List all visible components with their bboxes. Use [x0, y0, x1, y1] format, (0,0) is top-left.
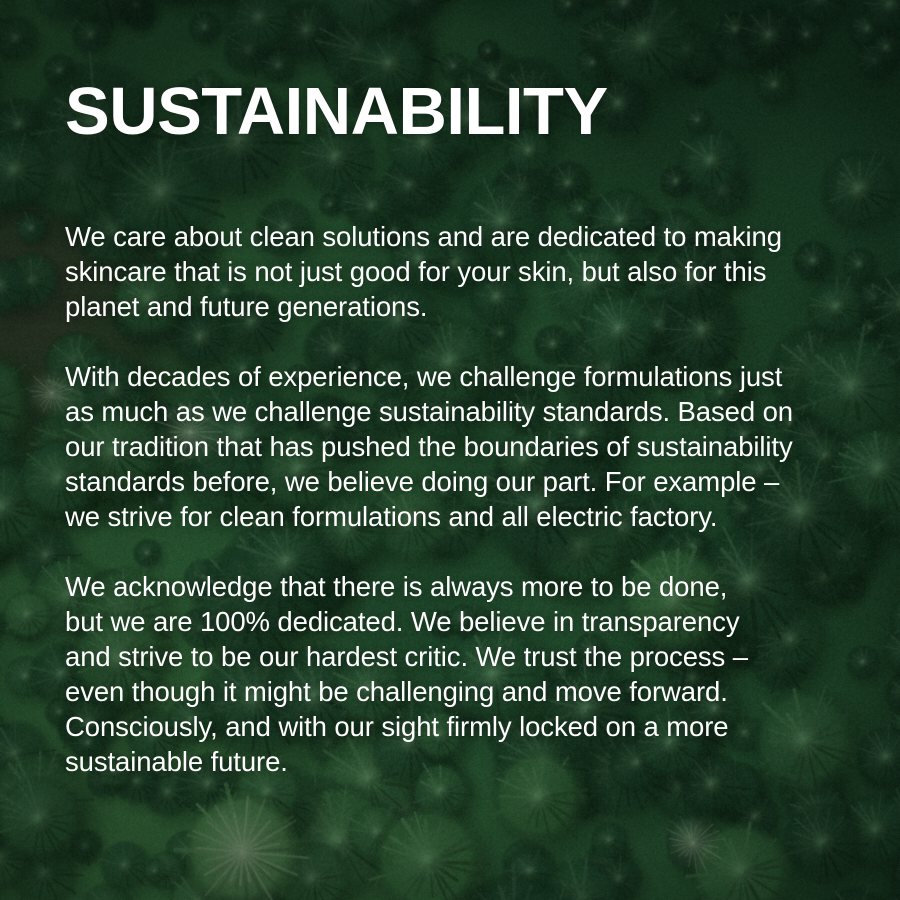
- page-title: SUSTAINABILITY: [65, 77, 608, 147]
- paragraph-2-line-4: standards before, we believe doing our p…: [65, 464, 865, 499]
- paragraph-3-line-5: Consciously, and with our sight firmly l…: [65, 709, 865, 744]
- paragraph-3-line-2: but we are 100% dedicated. We believe in…: [65, 604, 865, 639]
- paragraph-3-line-6: sustainable future.: [65, 744, 865, 779]
- paragraph-1-line-3: planet and future generations.: [65, 289, 865, 324]
- paragraph-1-line-2: skincare that is not just good for your …: [65, 254, 865, 289]
- paragraph-2-line-5: we strive for clean formulations and all…: [65, 499, 865, 534]
- paragraph-1-line-1: We care about clean solutions and are de…: [65, 219, 865, 254]
- paragraph-2-line-1: With decades of experience, we challenge…: [65, 359, 865, 394]
- sustainability-slide: SUSTAINABILITY We care about clean solut…: [0, 0, 900, 900]
- paragraph-2-line-2: as much as we challenge sustainability s…: [65, 394, 865, 429]
- paragraph-2: With decades of experience, we challenge…: [65, 359, 865, 534]
- paragraph-3: We acknowledge that there is always more…: [65, 569, 865, 779]
- paragraph-1: We care about clean solutions and are de…: [65, 219, 865, 324]
- body-copy: We care about clean solutions and are de…: [65, 219, 865, 779]
- paragraph-3-line-4: even though it might be challenging and …: [65, 674, 865, 709]
- text-content-block: SUSTAINABILITY We care about clean solut…: [65, 0, 865, 900]
- paragraph-2-line-3: our tradition that has pushed the bounda…: [65, 429, 865, 464]
- paragraph-3-line-3: and strive to be our hardest critic. We …: [65, 639, 865, 674]
- paragraph-3-line-1: We acknowledge that there is always more…: [65, 569, 865, 604]
